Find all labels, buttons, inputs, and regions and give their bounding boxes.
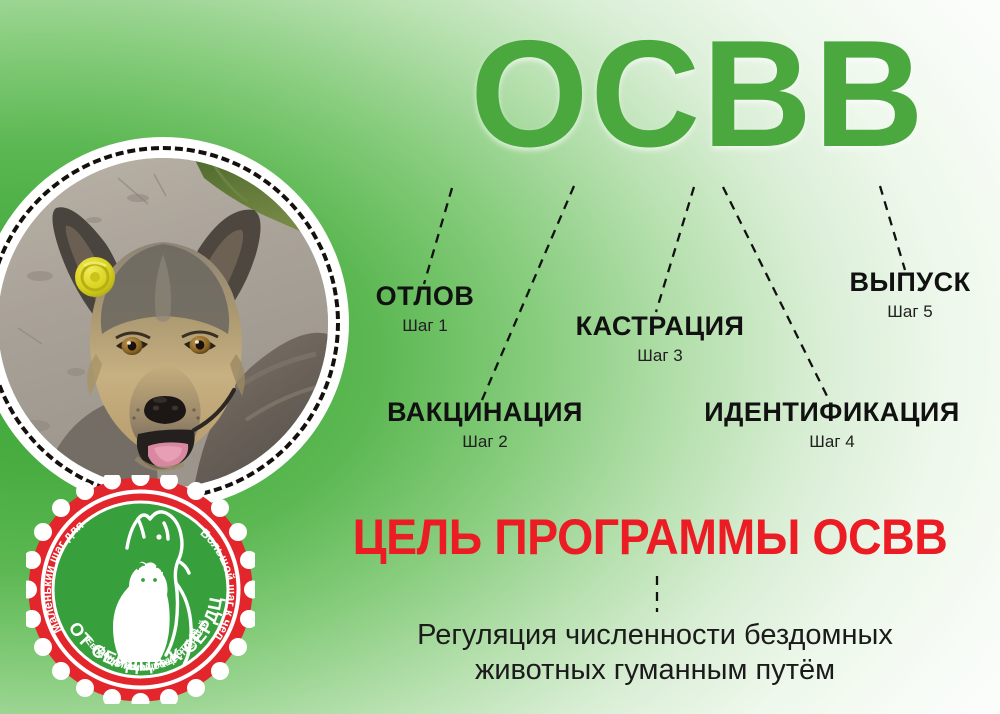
step-item-5: ВЫПУСК Шаг 5 (790, 268, 1000, 321)
step-subtitle-5: Шаг 5 (790, 303, 1000, 322)
step-title-4: ИДЕНТИФИКАЦИЯ (672, 398, 992, 428)
poster-canvas: ОСВВ (0, 0, 1000, 714)
step-item-3: КАСТРАЦИЯ Шаг 3 (520, 312, 800, 365)
dog-portrait-illustration (0, 158, 328, 488)
goal-headline: ЦЕЛЬ ПРОГРАММЫ ОСВВ (325, 512, 976, 562)
step-title-3: КАСТРАЦИЯ (520, 312, 800, 342)
step-subtitle-2: Шаг 2 (345, 433, 625, 452)
goal-description-line-2: животных гуманным путём (330, 653, 980, 688)
step-subtitle-3: Шаг 3 (520, 347, 800, 366)
step-title-1: ОТЛОВ (290, 282, 560, 312)
ear-tag (75, 257, 115, 297)
goal-description: Регуляция численности бездомных животных… (330, 618, 980, 689)
page-title: ОСВВ (418, 18, 978, 170)
connector-line-step-5 (880, 186, 905, 270)
foundation-logo: Маленький шаг для человека - Большой шаг… (26, 475, 255, 704)
step-title-2: ВАКЦИНАЦИЯ (345, 398, 625, 428)
goal-description-line-1: Регуляция численности бездомных (417, 619, 893, 651)
photo-image-clip (0, 158, 328, 488)
step-title-5: ВЫПУСК (790, 268, 1000, 298)
connector-line-step-3 (656, 187, 694, 312)
connector-line-step-1 (424, 188, 452, 284)
step-item-2: ВАКЦИНАЦИЯ Шаг 2 (345, 398, 625, 451)
step-subtitle-4: Шаг 4 (672, 433, 992, 452)
step-item-4: ИДЕНТИФИКАЦИЯ Шаг 4 (672, 398, 992, 451)
